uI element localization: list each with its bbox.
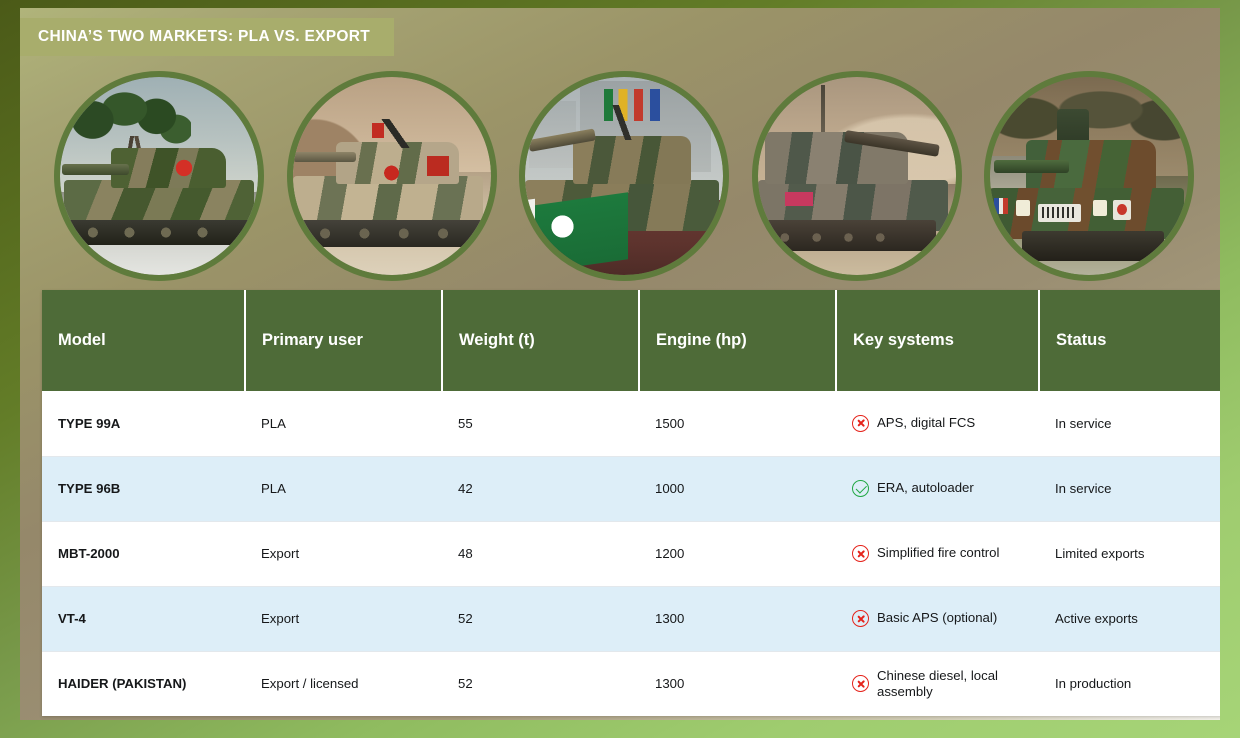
key-systems-text: Basic APS (optional) [877, 610, 997, 626]
cell-primary-user: Export [245, 521, 442, 586]
cell-weight: 48 [442, 521, 639, 586]
table-row: HAIDER (PAKISTAN) Export / licensed 52 1… [42, 651, 1220, 716]
cell-key-systems: APS, digital FCS [836, 391, 1039, 456]
cell-weight: 55 [442, 391, 639, 456]
cell-model: MBT-2000 [42, 521, 245, 586]
column-header-status: Status [1039, 290, 1220, 391]
cell-engine: 1200 [639, 521, 836, 586]
cell-weight: 52 [442, 586, 639, 651]
cell-model: VT-4 [42, 586, 245, 651]
cross-circle-icon [852, 610, 869, 627]
cell-key-systems: Chinese diesel, local assembly [836, 651, 1039, 716]
cell-weight: 42 [442, 456, 639, 521]
photo-vt-4-dust [752, 71, 962, 281]
photo-type-96b-desert [287, 71, 497, 281]
photo-mbt-2000-pakistan-parade [519, 71, 729, 281]
cell-primary-user: Export / licensed [245, 651, 442, 716]
cell-key-systems: ERA, autoloader [836, 456, 1039, 521]
cross-circle-icon [852, 415, 869, 432]
table-body: TYPE 99A PLA 55 1500 APS, digital FCS In… [42, 391, 1220, 716]
cell-status: In service [1039, 391, 1220, 456]
cell-status: In production [1039, 651, 1220, 716]
cell-status: In service [1039, 456, 1220, 521]
cross-circle-icon [852, 675, 869, 692]
infographic-card: CHINA’S TWO MARKETS: PLA VS. EXPORT [20, 8, 1220, 720]
key-systems-text: Simplified fire control [877, 545, 999, 561]
key-systems-text: APS, digital FCS [877, 415, 975, 431]
table-row: TYPE 99A PLA 55 1500 APS, digital FCS In… [42, 391, 1220, 456]
photo-strip [54, 70, 1194, 282]
key-systems-text: ERA, autoloader [877, 480, 974, 496]
cross-circle-icon [852, 545, 869, 562]
title-banner: CHINA’S TWO MARKETS: PLA VS. EXPORT [20, 18, 394, 56]
cell-primary-user: PLA [245, 456, 442, 521]
page-title: CHINA’S TWO MARKETS: PLA VS. EXPORT [38, 28, 370, 46]
table-header: Model Primary user Weight (t) Engine (hp… [42, 290, 1220, 391]
comparison-table-container: Model Primary user Weight (t) Engine (hp… [42, 290, 1220, 716]
cell-status: Limited exports [1039, 521, 1220, 586]
cell-status: Active exports [1039, 586, 1220, 651]
cell-engine: 1300 [639, 651, 836, 716]
table-header-row: Model Primary user Weight (t) Engine (hp… [42, 290, 1220, 391]
cell-model: HAIDER (PAKISTAN) [42, 651, 245, 716]
column-header-key-systems: Key systems [836, 290, 1039, 391]
cell-key-systems: Simplified fire control [836, 521, 1039, 586]
cell-engine: 1000 [639, 456, 836, 521]
photo-type-99a-parade [54, 71, 264, 281]
cell-model: TYPE 99A [42, 391, 245, 456]
cell-key-systems: Basic APS (optional) [836, 586, 1039, 651]
photo-haider-pakistan [984, 71, 1194, 281]
table-row: TYPE 96B PLA 42 1000 ERA, autoloader In … [42, 456, 1220, 521]
cell-engine: 1300 [639, 586, 836, 651]
cell-weight: 52 [442, 651, 639, 716]
check-circle-icon [852, 480, 869, 497]
cell-model: TYPE 96B [42, 456, 245, 521]
column-header-model: Model [42, 290, 245, 391]
column-header-weight: Weight (t) [442, 290, 639, 391]
key-systems-text: Chinese diesel, local assembly [877, 668, 1023, 700]
column-header-primary-user: Primary user [245, 290, 442, 391]
comparison-table: Model Primary user Weight (t) Engine (hp… [42, 290, 1220, 716]
table-row: MBT-2000 Export 48 1200 Simplified fire … [42, 521, 1220, 586]
table-row: VT-4 Export 52 1300 Basic APS (optional)… [42, 586, 1220, 651]
cell-engine: 1500 [639, 391, 836, 456]
cell-primary-user: Export [245, 586, 442, 651]
cell-primary-user: PLA [245, 391, 442, 456]
column-header-engine: Engine (hp) [639, 290, 836, 391]
